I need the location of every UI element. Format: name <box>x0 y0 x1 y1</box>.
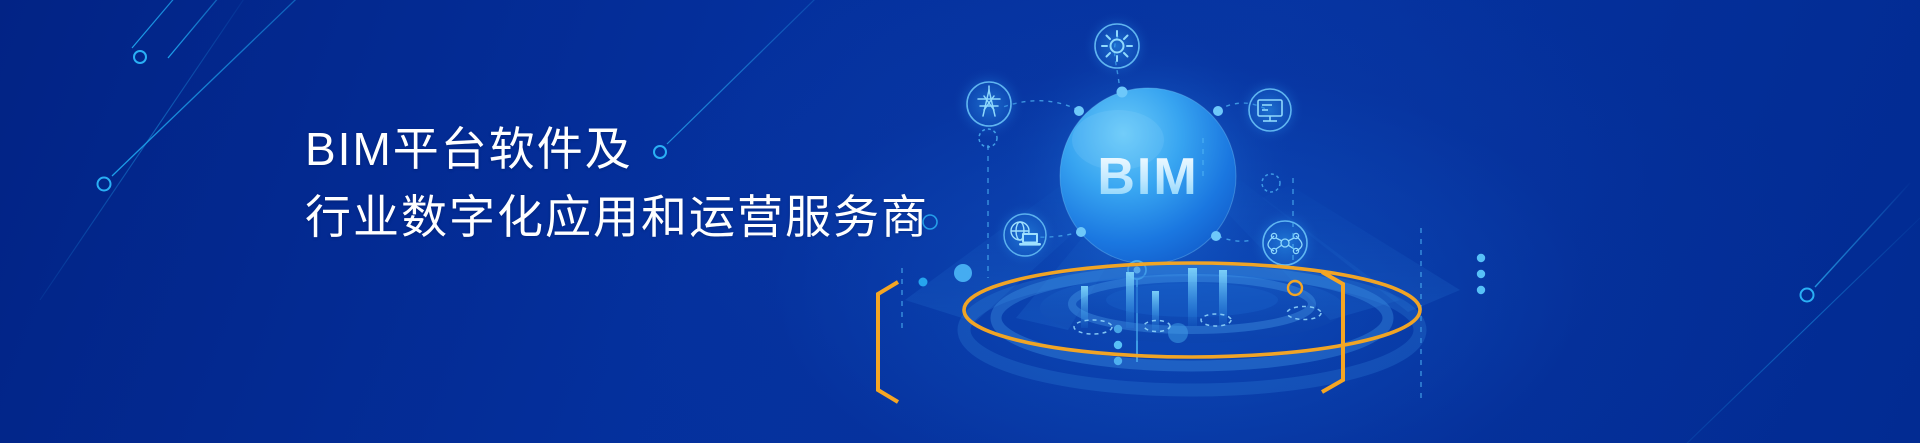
monitor-icon <box>1236 76 1304 144</box>
hero-banner: BIM <box>0 0 1920 443</box>
bim-illustration: BIM <box>0 0 1920 443</box>
sphere-label: BIM <box>1097 148 1198 206</box>
headline-line-1: BIM平台软件及 <box>305 115 929 183</box>
gear-icon <box>1083 12 1151 80</box>
bracket-left <box>878 282 898 402</box>
glow-dot <box>954 264 972 282</box>
page-title: BIM平台软件及 行业数字化应用和运营服务商 <box>305 115 929 251</box>
dot-column-right <box>1477 254 1485 294</box>
globe-laptop-icon <box>991 201 1059 269</box>
headline-line-2: 行业数字化应用和运营服务商 <box>305 183 929 251</box>
